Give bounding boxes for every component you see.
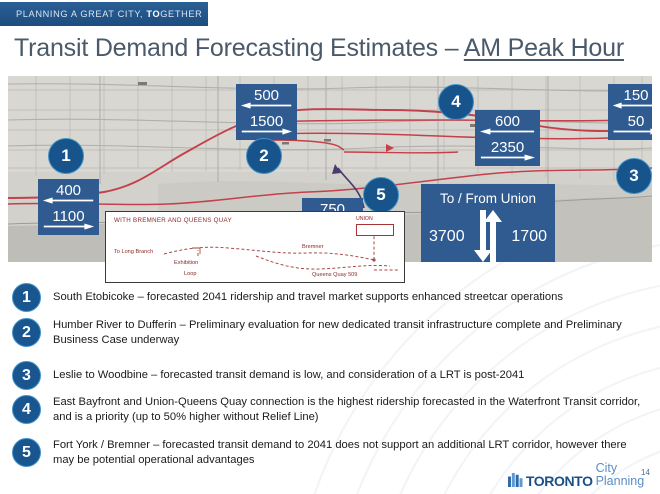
flow-row-eastbound: 1100 — [38, 210, 99, 231]
map-marker-1[interactable]: 1 — [48, 138, 84, 174]
flow-box-east-bayfront[interactable]: 600 2350 — [475, 110, 540, 166]
union-arrows-icon — [468, 210, 508, 262]
inset-label-queens-quay: Queens Quay 509 — [312, 272, 357, 278]
map-marker-2[interactable]: 2 — [246, 138, 282, 174]
note-item-2: 2 Humber River to Dufferin – Preliminary… — [8, 318, 652, 352]
flow-row-westbound: 400 — [38, 184, 99, 205]
note-bullet-4-label: 4 — [22, 401, 31, 419]
note-bullet-3[interactable]: 3 — [12, 361, 41, 390]
inset-label-long-branch: To Long Branch — [114, 249, 153, 255]
inset-label-loop: Loop — [184, 271, 196, 277]
flow-row-westbound: 150 — [608, 89, 652, 110]
flow-value-eastbound: 50 — [608, 114, 652, 129]
map-marker-4-label: 4 — [451, 92, 460, 112]
flow-row-westbound: 600 — [475, 115, 540, 136]
flow-row-eastbound: 2350 — [475, 141, 540, 162]
flow-row-eastbound: 50 — [608, 115, 652, 136]
note-bullet-1[interactable]: 1 — [12, 283, 41, 312]
flow-value-eastbound: 1500 — [236, 114, 297, 129]
inset-union-station-marker — [356, 224, 394, 236]
flow-row-westbound: 500 — [236, 89, 297, 110]
page-title-main: Transit Demand Forecasting Estimates – — [14, 34, 464, 62]
note-text-2: Humber River to Dufferin – Preliminary e… — [53, 318, 646, 347]
toronto-city-planning-logo: TORONTO City Planning — [508, 462, 660, 488]
to-from-union-box[interactable]: To / From Union 3700 1700 — [421, 184, 555, 262]
map-marker-3-label: 3 — [629, 166, 638, 186]
flow-value-westbound: 500 — [236, 88, 297, 103]
flow-value-westbound: 600 — [475, 114, 540, 129]
flow-value-westbound: 400 — [38, 183, 99, 198]
page-title-underlined: AM Peak Hour — [464, 34, 624, 62]
logo-primary-text: TORONTO — [526, 474, 593, 488]
inset-label-bremner: Bremner — [302, 244, 323, 250]
note-bullet-4[interactable]: 4 — [12, 395, 41, 424]
arrow-west-icon — [42, 197, 95, 204]
banner-bold: TO — [146, 9, 160, 19]
page-title: Transit Demand Forecasting Estimates – A… — [14, 34, 624, 63]
inset-label-union: UNION — [356, 216, 373, 222]
note-text-1: South Etobicoke – forecasted 2041 riders… — [53, 290, 646, 305]
arrow-east-icon — [42, 223, 95, 230]
note-text-3: Leslie to Woodbine – forecasted transit … — [53, 368, 646, 383]
inset-map[interactable]: WITH BREMNER AND QUEENS QUAY To Long Bra… — [105, 211, 405, 283]
arrow-west-icon — [612, 102, 652, 109]
map-marker-1-label: 1 — [61, 146, 70, 166]
note-item-4: 4 East Bayfront and Union-Queens Quay co… — [8, 395, 652, 429]
union-from-value: 1700 — [511, 228, 547, 246]
map-marker-5-label: 5 — [376, 185, 385, 205]
flow-box-west-etobicoke[interactable]: 400 1100 — [38, 179, 99, 235]
arrow-east-icon — [612, 128, 652, 135]
inset-map-lines — [106, 212, 405, 283]
arrow-east-icon — [479, 154, 536, 161]
flow-value-eastbound: 1100 — [38, 209, 99, 224]
flow-row-eastbound: 1500 — [236, 115, 297, 136]
page-number: 14 — [641, 468, 650, 477]
note-item-3: 3 Leslie to Woodbine – forecasted transi… — [8, 361, 652, 390]
arrow-east-icon — [240, 128, 293, 135]
note-bullet-2[interactable]: 2 — [12, 318, 41, 347]
note-bullet-1-label: 1 — [22, 289, 31, 307]
arrow-west-icon — [479, 128, 536, 135]
slide-root: PLANNING A GREAT CITY, TOGETHER Transit … — [0, 0, 660, 494]
banner-suffix: GETHER — [160, 9, 202, 19]
flow-value-eastbound: 2350 — [475, 140, 540, 155]
map-marker-2-label: 2 — [259, 146, 268, 166]
arrow-west-icon — [240, 102, 293, 109]
note-text-4: East Bayfront and Union-Queens Quay conn… — [53, 395, 646, 424]
union-box-title: To / From Union — [421, 191, 555, 206]
flow-box-leslie-woodbine[interactable]: 150 50 — [608, 84, 652, 140]
note-item-1: 1 South Etobicoke – forecasted 2041 ride… — [8, 283, 652, 312]
logo-secondary-text: City Planning — [596, 462, 660, 488]
flow-value-westbound: 150 — [608, 88, 652, 103]
map-marker-4[interactable]: 4 — [438, 84, 474, 120]
flow-box-humber-dufferin[interactable]: 500 1500 — [236, 84, 297, 140]
note-bullet-5-label: 5 — [22, 444, 31, 462]
toronto-logo-icon — [508, 472, 523, 488]
header-banner: PLANNING A GREAT CITY, TOGETHER — [0, 2, 208, 26]
inset-label-exhibition: Exhibition — [174, 260, 198, 266]
banner-prefix: PLANNING A GREAT CITY, — [16, 9, 146, 19]
note-bullet-3-label: 3 — [22, 367, 31, 385]
union-to-value: 3700 — [429, 228, 465, 246]
map-marker-3[interactable]: 3 — [616, 158, 652, 194]
note-bullet-2-label: 2 — [22, 324, 31, 342]
banner-text: PLANNING A GREAT CITY, TOGETHER — [0, 9, 202, 19]
map-marker-5[interactable]: 5 — [363, 177, 399, 213]
note-bullet-5[interactable]: 5 — [12, 438, 41, 467]
